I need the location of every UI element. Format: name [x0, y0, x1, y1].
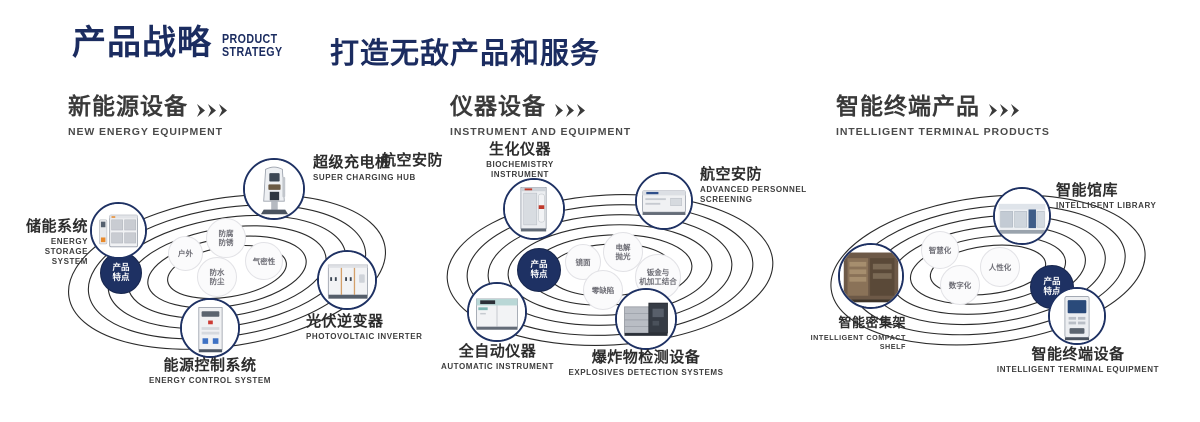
chevron-right-icon	[989, 104, 1023, 119]
product-node-personnel-screening[interactable]	[635, 172, 693, 230]
product-node-smart-library[interactable]	[993, 187, 1051, 245]
feature-bubble: 人性化	[980, 247, 1020, 287]
product-node-energy-storage[interactable]	[90, 202, 147, 259]
caption-en: INTELLIGENT TERMINAL EQUIPMENT	[963, 365, 1193, 375]
page-subtitle: 打造无敌产品和服务	[330, 30, 600, 72]
caption-cn: 生化仪器	[425, 142, 615, 158]
caption-en: INTELLIGENT LIBRARY	[1056, 201, 1200, 211]
node-caption-aviation-security-left: 航空安防	[313, 153, 443, 169]
caption-en: ENERGY STORAGE SYSTEM	[10, 237, 88, 267]
product-node-biochemistry[interactable]	[503, 178, 565, 240]
product-node-explosives-detection[interactable]	[615, 288, 677, 350]
charging-pile-photo	[245, 160, 303, 218]
section-title-en: NEW ENERGY EQUIPMENT	[68, 126, 231, 138]
caption-cn: 智能密集架	[746, 317, 906, 331]
feature-bubble: 气密性	[245, 242, 283, 280]
section-heading-instrument: 仪器设备 INSTRUMENT AND EQUIPMENT	[450, 96, 631, 138]
caption-en: BIOCHEMISTRY INSTRUMENT	[425, 160, 615, 180]
feature-bubble: 防水 防尘	[197, 257, 237, 297]
feature-bubble: 数字化	[940, 265, 980, 305]
section-title-en: INSTRUMENT AND EQUIPMENT	[450, 126, 631, 138]
feature-bubble: 防腐 防锈	[206, 218, 246, 258]
biochemistry-analyzer-photo	[505, 180, 563, 238]
caption-cn: 智能馆库	[1056, 183, 1200, 199]
product-node-compact-shelf[interactable]	[838, 243, 904, 309]
battery-cabinet-photo	[92, 204, 145, 257]
node-caption-compact-shelf: 智能密集架 INTELLIGENT COMPACT SHELF	[746, 317, 906, 351]
section-title-cn: 智能终端产品	[836, 96, 980, 119]
compact-shelf-photo	[840, 245, 902, 307]
product-node-smart-terminal[interactable]	[1048, 287, 1106, 345]
node-caption-energy-control: 能源控制系统 ENERGY CONTROL SYSTEM	[90, 358, 330, 386]
explosive-detector-photo	[617, 290, 675, 348]
caption-cn: 能源控制系统	[90, 358, 330, 374]
caption-cn: 储能系统	[10, 219, 88, 235]
caption-cn: 智能终端设备	[963, 347, 1193, 363]
orbit-diagram-new-energy: 户外 防腐 防锈 防水 防尘 气密性 产品 特点 储能系统 ENERGY S	[55, 160, 400, 385]
orbit-diagram-intelligent: 智慧化 数字化 人性化 产品 特点 智能馆库 INTELLIGENT LIBRA…	[818, 165, 1166, 385]
chevron-right-icon	[197, 104, 231, 119]
node-caption-biochemistry: 生化仪器 BIOCHEMISTRY INSTRUMENT	[425, 142, 615, 180]
section-heading-new-energy: 新能源设备 NEW ENERGY EQUIPMENT	[68, 96, 231, 138]
section-title-cn: 仪器设备	[450, 96, 546, 119]
page-title-cn: 产品战略	[72, 26, 212, 60]
slide-canvas: 产品战略 PRODUCT STRATEGY 打造无敌产品和服务 新能源设备 NE…	[0, 0, 1200, 422]
smart-library-photo	[995, 189, 1049, 243]
caption-en: INTELLIGENT COMPACT SHELF	[746, 333, 906, 351]
automatic-instrument-photo	[469, 284, 525, 340]
caption-en: AUTOMATIC INSTRUMENT	[405, 362, 590, 372]
caption-en: ENERGY CONTROL SYSTEM	[90, 376, 330, 386]
node-caption-automatic-instrument: 全自动仪器 AUTOMATIC INSTRUMENT	[405, 344, 590, 372]
inverter-cabinet-photo	[319, 252, 375, 308]
security-scanner-photo	[637, 174, 691, 228]
orbit-diagram-instrument: 镜面 电解 抛光 钣金与 机加工结合 零缺陷 产品 特点 生化仪器 BIOCHE…	[435, 160, 785, 385]
section-title-cn: 新能源设备	[68, 96, 188, 119]
feature-bubble: 户外	[168, 236, 203, 271]
node-caption-smart-library: 智能馆库 INTELLIGENT LIBRARY	[1056, 183, 1200, 211]
control-cabinet-photo	[182, 300, 238, 356]
caption-cn: 航空安防	[313, 153, 443, 169]
page-title: 产品战略 PRODUCT STRATEGY	[72, 26, 296, 60]
feature-bubble: 智慧化	[921, 231, 959, 269]
smart-terminal-photo	[1050, 289, 1104, 343]
product-node-energy-control[interactable]	[180, 298, 240, 358]
product-node-charging-hub[interactable]	[243, 158, 305, 220]
caption-cn: 全自动仪器	[405, 344, 590, 360]
product-node-automatic-instrument[interactable]	[467, 282, 527, 342]
page-title-en: PRODUCT STRATEGY	[222, 29, 283, 58]
node-caption-smart-terminal: 智能终端设备 INTELLIGENT TERMINAL EQUIPMENT	[963, 347, 1193, 375]
node-caption-energy-storage: 储能系统 ENERGY STORAGE SYSTEM	[10, 219, 88, 267]
section-heading-intelligent: 智能终端产品 INTELLIGENT TERMINAL PRODUCTS	[836, 96, 1050, 138]
section-title-en: INTELLIGENT TERMINAL PRODUCTS	[836, 126, 1050, 138]
chevron-right-icon	[555, 104, 589, 119]
product-node-pv-inverter[interactable]	[317, 250, 377, 310]
